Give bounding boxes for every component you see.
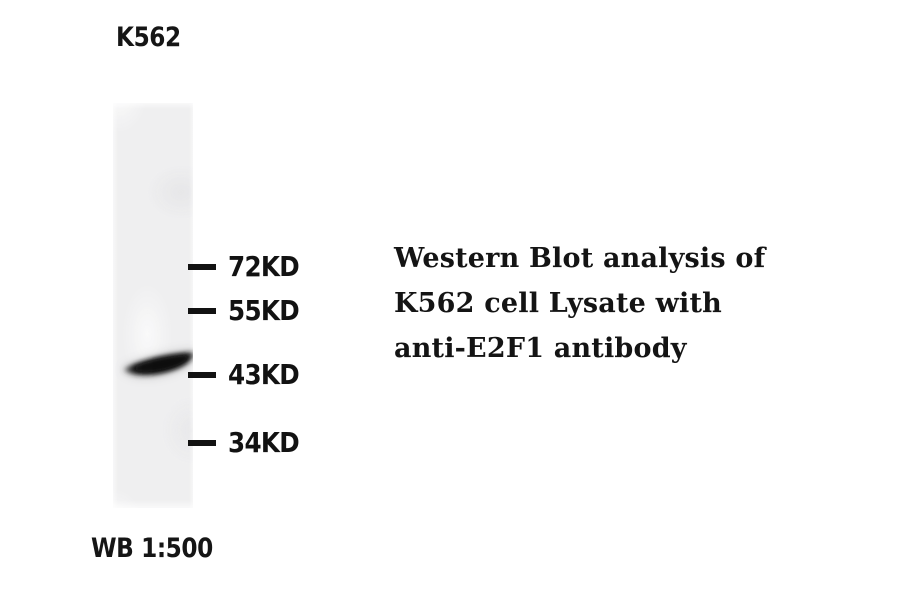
membrane-edge-top: [113, 103, 193, 109]
marker-label-43kd: 43KD: [228, 361, 299, 389]
figure-caption: Western Blot analysis of K562 cell Lysat…: [394, 236, 824, 371]
membrane-edge-bottom: [113, 500, 193, 508]
gel-lane: [113, 103, 193, 508]
marker-label-34kd: 34KD: [228, 429, 299, 457]
lane-dilution-label: WB 1:500: [91, 533, 213, 564]
membrane-texture: [113, 103, 193, 508]
marker-dash-icon: [188, 308, 216, 314]
marker-label-55kd: 55KD: [228, 297, 299, 325]
marker-dash-icon: [188, 372, 216, 378]
marker-label-72kd: 72KD: [228, 253, 299, 281]
caption-line-3: anti-E2F1 antibody: [394, 326, 824, 371]
caption-line-2: K562 cell Lysate with: [394, 281, 824, 326]
marker-dash-icon: [188, 264, 216, 270]
lane-sample-label: K562: [116, 22, 181, 53]
membrane-edge-left: [113, 103, 118, 508]
western-blot-figure: K562: [0, 0, 900, 594]
marker-dash-icon: [188, 440, 216, 446]
membrane-edge-right: [189, 103, 193, 508]
caption-line-1: Western Blot analysis of: [394, 236, 824, 281]
